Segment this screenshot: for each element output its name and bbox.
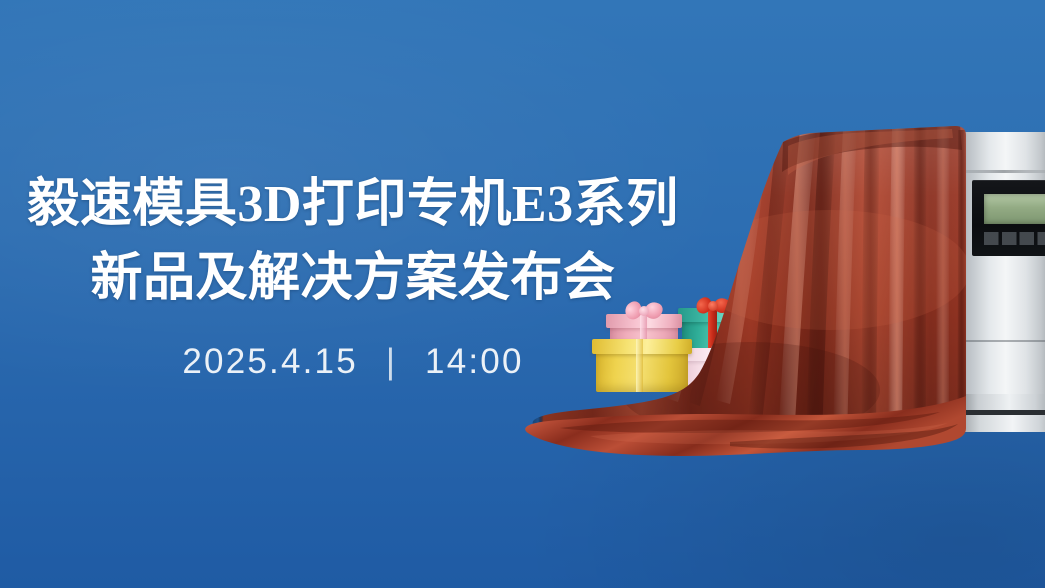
poster-text-block: 毅速模具3D打印专机E3系列 新品及解决方案发布会 2025.4.15 | 14… bbox=[0, 168, 706, 382]
datetime-separator: | bbox=[386, 342, 397, 382]
event-datetime: 2025.4.15 | 14:00 bbox=[0, 342, 706, 382]
event-time: 14:00 bbox=[425, 342, 524, 381]
headline-line-1: 毅速模具3D打印专机E3系列 bbox=[0, 168, 706, 242]
event-poster: 毅速模具3D打印专机E3系列 新品及解决方案发布会 2025.4.15 | 14… bbox=[0, 0, 1045, 588]
event-date: 2025.4.15 bbox=[182, 342, 358, 381]
headline-line-2: 新品及解决方案发布会 bbox=[0, 242, 706, 316]
